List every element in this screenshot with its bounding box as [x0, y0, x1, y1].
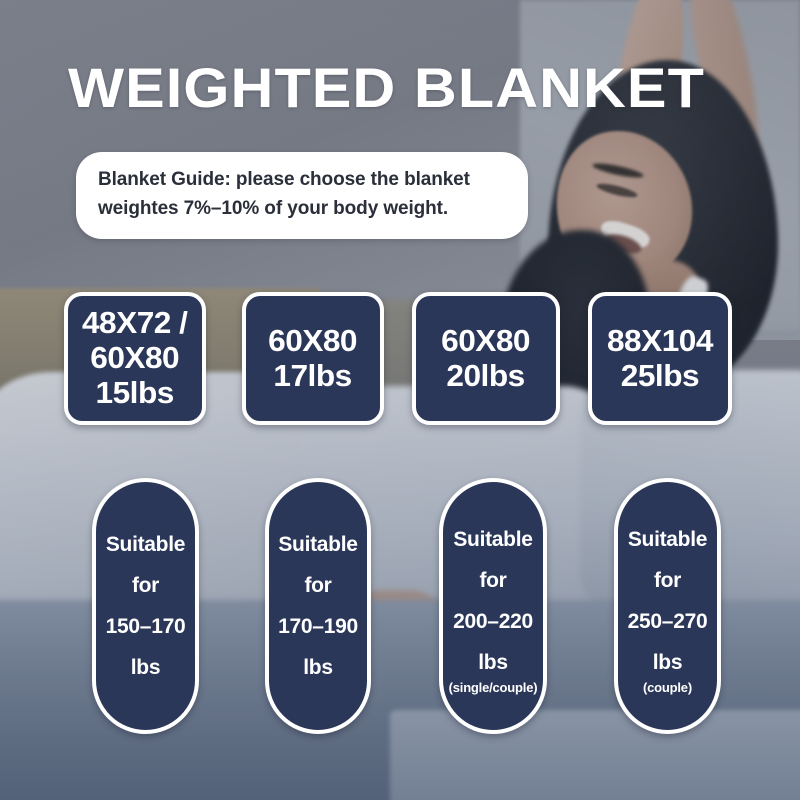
suitable-line-1: Suitable	[453, 529, 532, 550]
suitable-card-200-220[interactable]: Suitable for 200–220 lbs (single/couple)	[439, 478, 547, 734]
suitable-weight-range: 250–270	[628, 611, 708, 632]
suitable-card-150-170[interactable]: Suitable for 150–170 lbs	[92, 478, 199, 734]
blanket-guide-callout: Blanket Guide: please choose the blanket…	[76, 152, 528, 239]
size-line-2: 60X80	[82, 341, 187, 376]
suitable-weight-range: 200–220	[453, 611, 533, 632]
size-line-3: 15lbs	[82, 376, 187, 411]
size-line-2: 20lbs	[442, 359, 531, 394]
suitable-line-1: Suitable	[628, 529, 707, 550]
infographic-content: WEIGHTED BLANKET Blanket Guide: please c…	[0, 0, 800, 800]
size-line-1: 48X72 /	[82, 306, 187, 341]
size-card-text: 60X80 17lbs	[269, 324, 358, 393]
size-line-2: 17lbs	[269, 359, 358, 394]
suitable-card-250-270[interactable]: Suitable for 250–270 lbs (couple)	[614, 478, 721, 734]
suitable-line-1: Suitable	[106, 534, 185, 555]
suitable-unit: lbs	[478, 652, 507, 673]
size-card-row: 48X72 / 60X80 15lbs 60X80 17lbs 60X80 20…	[0, 292, 800, 432]
size-line-1: 60X80	[269, 324, 358, 359]
suitable-note: (single/couple)	[449, 681, 538, 694]
size-card-text: 48X72 / 60X80 15lbs	[82, 306, 187, 410]
page-title: WEIGHTED BLANKET	[68, 60, 705, 116]
size-card-20lbs[interactable]: 60X80 20lbs	[412, 292, 560, 425]
suitable-card-row: Suitable for 150–170 lbs Suitable for 17…	[0, 478, 800, 736]
size-card-15lbs[interactable]: 48X72 / 60X80 15lbs	[64, 292, 206, 425]
guide-line-1: Blanket Guide: please choose the blanket	[98, 166, 506, 195]
size-card-text: 60X80 20lbs	[442, 324, 531, 393]
suitable-unit: lbs	[303, 657, 332, 678]
size-card-17lbs[interactable]: 60X80 17lbs	[242, 292, 384, 425]
suitable-line-2: for	[304, 575, 331, 596]
size-line-1: 88X104	[607, 324, 713, 359]
suitable-weight-range: 150–170	[106, 616, 186, 637]
suitable-line-2: for	[479, 570, 506, 591]
suitable-weight-range: 170–190	[278, 616, 358, 637]
size-line-1: 60X80	[442, 324, 531, 359]
suitable-line-2: for	[132, 575, 159, 596]
size-card-text: 88X104 25lbs	[607, 324, 713, 393]
suitable-line-2: for	[654, 570, 681, 591]
size-card-25lbs[interactable]: 88X104 25lbs	[588, 292, 732, 425]
suitable-note: (couple)	[643, 681, 692, 694]
suitable-card-170-190[interactable]: Suitable for 170–190 lbs	[265, 478, 371, 734]
suitable-line-1: Suitable	[278, 534, 357, 555]
size-line-2: 25lbs	[607, 359, 713, 394]
suitable-unit: lbs	[131, 657, 160, 678]
guide-line-2: weightes 7%–10% of your body weight.	[98, 195, 506, 224]
suitable-unit: lbs	[653, 652, 682, 673]
infographic-stage: WEIGHTED BLANKET Blanket Guide: please c…	[0, 0, 800, 800]
